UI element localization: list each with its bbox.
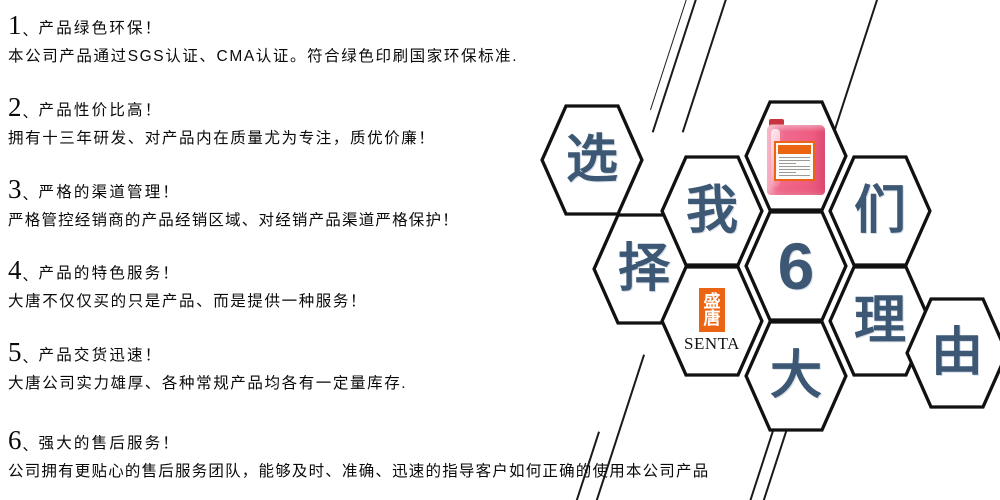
hex-label: 理 [854,295,906,347]
hex-label: 大 [770,350,822,402]
logo-wordmark: SENTA [684,334,740,354]
label-header-band [778,145,811,154]
hex-label: 们 [854,185,906,237]
hex-cell-xuan: 选 [540,104,644,216]
product-image [765,117,827,195]
label-text-lines [779,157,810,176]
hex-cell-you: 由 [905,297,1000,409]
logo-mark-char-1: 盛 [703,293,720,310]
hex-label: 选 [566,134,618,186]
hex-label: 由 [931,327,983,379]
hex-label: 择 [618,243,670,295]
hex-cell-men: 们 [828,155,932,267]
logo-mark-char-2: 唐 [703,310,720,327]
logo-mark: 盛 唐 [699,288,725,332]
jerrycan-label [774,141,815,181]
brand-logo: 盛 唐 SENTA [684,288,740,354]
hex-label: 6 [778,233,815,299]
honeycomb-graphic: 选 择 我 [0,0,1000,500]
hex-label: 我 [686,185,738,237]
promo-banner: 1 、 产品绿色环保！ 本公司产品通过SGS认证、CMA认证。符合绿色印刷国家环… [0,0,1000,500]
